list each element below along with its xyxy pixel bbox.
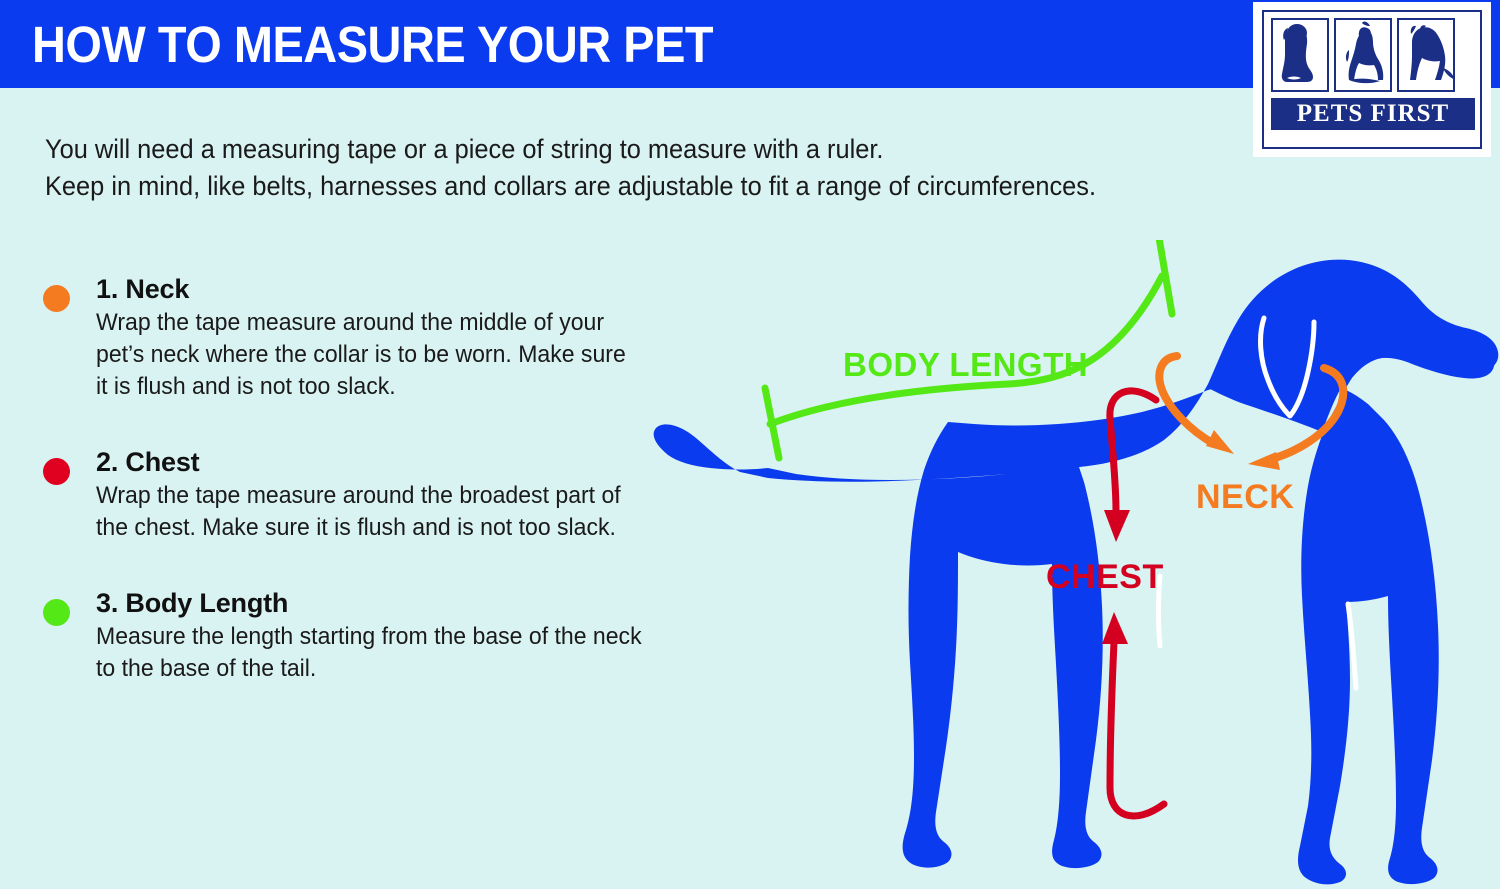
step-chest: 2. Chest Wrap the tape measure around th… xyxy=(40,447,680,544)
step-body-length: 3. Body Length Measure the length starti… xyxy=(40,588,680,685)
dog-howling-icon xyxy=(1334,18,1392,92)
steps-list: 1. Neck Wrap the tape measure around the… xyxy=(40,274,680,724)
chest-label: CHEST xyxy=(1046,558,1164,596)
step-body-length-body: Measure the length starting from the bas… xyxy=(96,621,643,685)
dog-sitting-side-icon-svg xyxy=(1399,20,1453,90)
bullet-body-length xyxy=(43,599,70,626)
dog-measurement-diagram: BODY LENGTH NECK CHEST xyxy=(648,240,1500,889)
intro-line-1: You will need a measuring tape or a piec… xyxy=(45,131,1258,168)
dog-sitting-icon-svg xyxy=(1273,20,1327,90)
step-body-length-title: 3. Body Length xyxy=(96,588,680,619)
intro-line-2: Keep in mind, like belts, harnesses and … xyxy=(45,168,1258,205)
intro-paragraph: You will need a measuring tape or a piec… xyxy=(45,131,1258,205)
bullet-chest xyxy=(43,458,70,485)
dog-sitting-side-icon xyxy=(1397,18,1455,92)
bullet-neck xyxy=(43,285,70,312)
logo-wordmark: PETS FIRST xyxy=(1271,98,1475,130)
neck-arrow-left-head xyxy=(1206,430,1234,454)
neck-label: NECK xyxy=(1196,478,1294,516)
chest-arrow-top-head xyxy=(1104,510,1130,542)
step-chest-body: Wrap the tape measure around the broades… xyxy=(96,480,643,544)
brand-logo: PETS FIRST xyxy=(1253,2,1491,157)
step-neck-body: Wrap the tape measure around the middle … xyxy=(96,307,643,403)
infographic-page: HOW TO MEASURE YOUR PET xyxy=(0,0,1500,889)
dog-howling-icon-svg xyxy=(1336,20,1390,90)
dog-sitting-icon xyxy=(1271,18,1329,92)
chest-arrow-bottom-shaft xyxy=(1110,642,1164,816)
chest-arrow-bottom-head xyxy=(1102,612,1128,644)
logo-frame: PETS FIRST xyxy=(1262,10,1482,149)
body-length-label: BODY LENGTH xyxy=(843,346,1088,383)
dog-diagram-svg: BODY LENGTH NECK CHEST xyxy=(648,240,1500,889)
step-chest-title: 2. Chest xyxy=(96,447,680,478)
page-title: HOW TO MEASURE YOUR PET xyxy=(32,17,713,73)
neck-arrow-right-head xyxy=(1248,452,1280,470)
step-neck: 1. Neck Wrap the tape measure around the… xyxy=(40,274,680,403)
step-neck-title: 1. Neck xyxy=(96,274,680,305)
